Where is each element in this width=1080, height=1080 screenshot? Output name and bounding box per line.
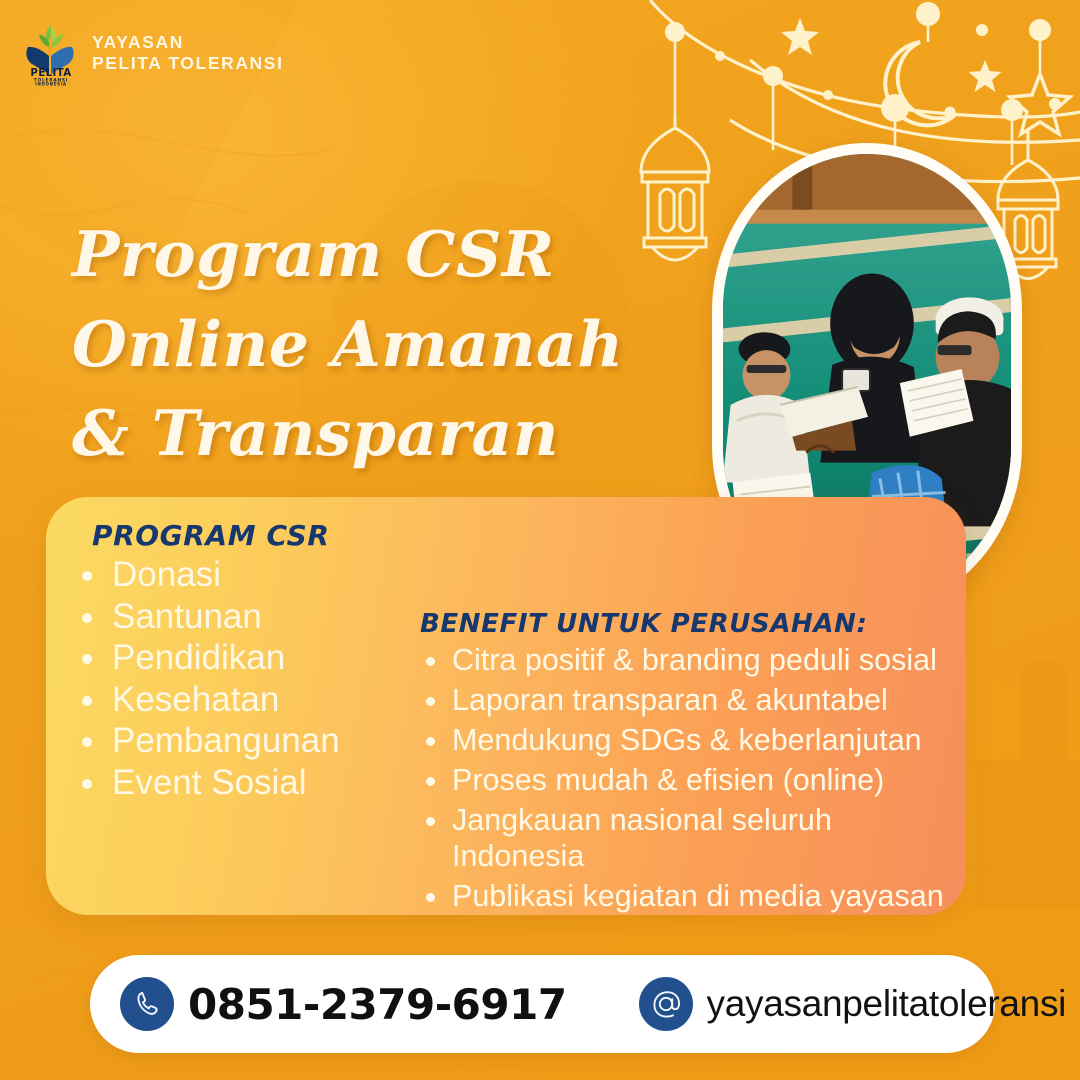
brand-name: YAYASAN PELITA TOLERANSI <box>92 32 284 75</box>
benefit-heading: BENEFIT UNTUK PERUSAHAN: <box>420 609 956 639</box>
logo-mark: PELITA TOLERANSI INDONESIA <box>22 20 80 86</box>
list-item: Kesehatan <box>66 679 396 721</box>
benefit-column: BENEFIT UNTUK PERUSAHAN: Citra positif &… <box>416 609 956 919</box>
at-sign-icon <box>639 977 693 1031</box>
info-card: PROGRAM CSR Donasi Santunan Pendidikan K… <box>46 497 966 915</box>
program-column: PROGRAM CSR Donasi Santunan Pendidikan K… <box>66 519 396 803</box>
brand-line-2: PELITA TOLERANSI <box>92 53 284 74</box>
star-icon <box>969 60 1002 92</box>
program-list: Donasi Santunan Pendidikan Kesehatan Pem… <box>66 554 396 803</box>
list-item: Pendidikan <box>66 637 396 679</box>
brand-header: PELITA TOLERANSI INDONESIA YAYASAN PELIT… <box>22 20 284 86</box>
contact-bar: 0851-2379-6917 yayasanpelitatoleransi <box>90 955 995 1053</box>
list-item: Santunan <box>66 596 396 638</box>
svg-text:PELITA: PELITA <box>30 68 71 79</box>
social-contact[interactable]: yayasanpelitatoleransi <box>639 977 1067 1031</box>
benefit-list: Citra positif & branding peduli sosial L… <box>416 643 956 914</box>
svg-text:INDONESIA: INDONESIA <box>35 82 67 86</box>
phone-contact[interactable]: 0851-2379-6917 <box>120 977 567 1031</box>
title-line-1: Program CSR <box>72 210 672 299</box>
list-item: Pembangunan <box>66 720 396 762</box>
list-item: Laporan transparan & akuntabel <box>416 683 956 719</box>
title-line-3: & Transparan <box>72 389 672 478</box>
poster-canvas: PELITA TOLERANSI INDONESIA YAYASAN PELIT… <box>0 0 1080 1080</box>
list-item: Citra positif & branding peduli sosial <box>416 643 956 679</box>
list-item: Proses mudah & efisien (online) <box>416 763 956 799</box>
star-icon <box>781 18 819 55</box>
brand-line-1: YAYASAN <box>92 32 284 53</box>
phone-number: 0851-2379-6917 <box>188 980 567 1029</box>
list-item: Publikasi kegiatan di media yayasan <box>416 879 956 915</box>
page-title: Program CSR Online Amanah & Transparan <box>72 210 672 478</box>
list-item: Jangkauan nasional seluruh Indonesia <box>416 803 956 874</box>
star-outline-icon <box>1010 74 1070 134</box>
program-heading: PROGRAM CSR <box>92 519 396 552</box>
list-item: Event Sosial <box>66 762 396 804</box>
string-lights-icon <box>650 0 1080 117</box>
crescent-moon-icon <box>885 42 956 125</box>
title-line-2: Online Amanah <box>72 300 672 389</box>
list-item: Donasi <box>66 554 396 596</box>
social-handle: yayasanpelitatoleransi <box>707 983 1067 1025</box>
list-item: Mendukung SDGs & keberlanjutan <box>416 723 956 759</box>
phone-icon <box>120 977 174 1031</box>
